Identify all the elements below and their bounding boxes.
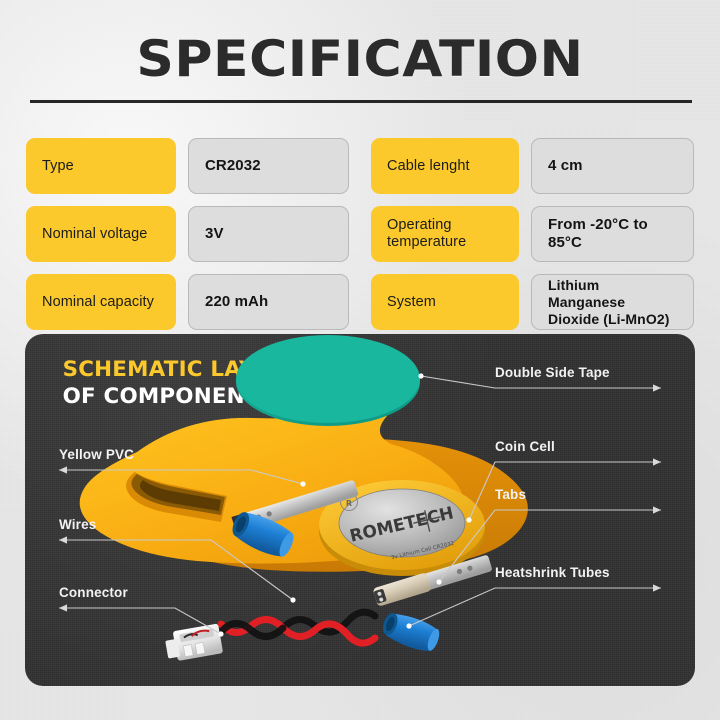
callout-tabs: Tabs: [495, 487, 526, 503]
table-row: Type CR2032: [26, 138, 349, 194]
callout-label: Tabs: [495, 487, 526, 503]
callout-wires: Wires: [59, 517, 96, 533]
callout-yellow-pvc: Yellow PVC: [59, 447, 134, 463]
spec-value: 3V: [188, 206, 349, 262]
spec-key: Cable lenght: [371, 138, 519, 194]
callout-leader-lines: [25, 334, 695, 686]
table-row: System Lithium Manganese Dioxide (Li-MnO…: [371, 274, 694, 330]
table-row: Operating temperature From -20°C to 85°C: [371, 206, 694, 262]
spec-key: Nominal capacity: [26, 274, 176, 330]
page-title: SPECIFICATION: [0, 30, 720, 88]
callout-heatshrink-tubes: Heatshrink Tubes: [495, 565, 610, 581]
callout-coin-cell: Coin Cell: [495, 439, 555, 455]
callout-double-side-tape: Double Side Tape: [495, 365, 610, 381]
title-divider: [30, 100, 692, 103]
spec-column-right: Cable lenght 4 cm Operating temperature …: [371, 138, 694, 330]
spec-value: Lithium Manganese Dioxide (Li-MnO2): [531, 274, 694, 330]
spec-key: Type: [26, 138, 176, 194]
callout-label: Double Side Tape: [495, 365, 610, 381]
callout-label: Heatshrink Tubes: [495, 565, 610, 581]
table-row: Cable lenght 4 cm: [371, 138, 694, 194]
specification-table: Type CR2032 Nominal voltage 3V Nominal c…: [26, 138, 694, 330]
spec-value: 220 mAh: [188, 274, 349, 330]
callout-label: Coin Cell: [495, 439, 555, 455]
spec-key: Nominal voltage: [26, 206, 176, 262]
callout-label: Connector: [59, 585, 128, 601]
callout-label: Wires: [59, 517, 96, 533]
table-row: Nominal capacity 220 mAh: [26, 274, 349, 330]
table-row: Nominal voltage 3V: [26, 206, 349, 262]
callout-connector: Connector: [59, 585, 128, 601]
spec-key: Operating temperature: [371, 206, 519, 262]
spec-key: System: [371, 274, 519, 330]
schematic-panel: SCHEMATIC LAYOUT OF COMPONENTS: [25, 334, 695, 686]
spec-value: From -20°C to 85°C: [531, 206, 694, 262]
spec-column-left: Type CR2032 Nominal voltage 3V Nominal c…: [26, 138, 349, 330]
spec-value: 4 cm: [531, 138, 694, 194]
callout-label: Yellow PVC: [59, 447, 134, 463]
spec-value: CR2032: [188, 138, 349, 194]
